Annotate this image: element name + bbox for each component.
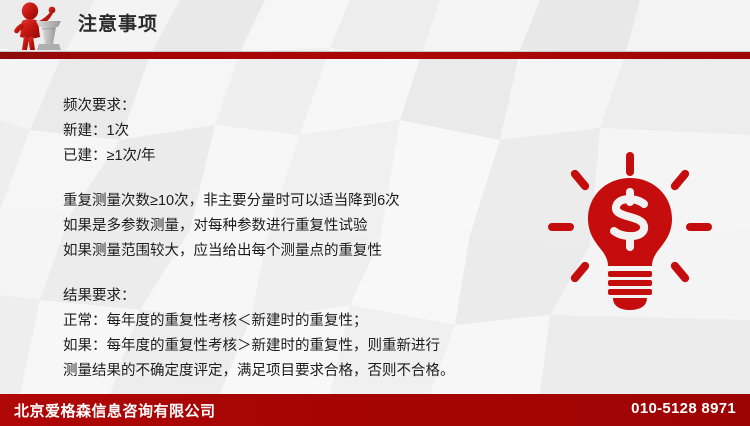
text-line: 新建：1次	[63, 119, 533, 144]
text-line: 测量结果的不确定度评定，满足项目要求合格，否则不合格。	[63, 359, 533, 384]
paragraph-repeat-measurement-requirements: 重复测量次数≥10次，非主要分量时可以适当降到6次 如果是多参数测量，对每种参数…	[63, 189, 533, 264]
page-title: 注意事项	[78, 12, 158, 38]
footer-company-name: 北京爱格森信息咨询有限公司	[14, 400, 216, 421]
header-divider-rule	[0, 51, 750, 59]
text-line: 重复测量次数≥10次，非主要分量时可以适当降到6次	[63, 189, 533, 214]
paragraph-frequency-requirements: 频次要求： 新建：1次 已建：≥1次/年	[63, 94, 533, 169]
text-line: 频次要求：	[63, 94, 533, 119]
text-line: 正常：每年度的重复性考核＜新建时的重复性；	[63, 309, 533, 334]
text-line: 如果是多参数测量，对每种参数进行重复性试验	[63, 214, 533, 239]
text-line: 结果要求：	[63, 284, 533, 309]
text-line: 如果：每年度的重复性考核＞新建时的重复性，则重新进行	[63, 334, 533, 359]
paragraph-result-requirements: 结果要求： 正常：每年度的重复性考核＜新建时的重复性； 如果：每年度的重复性考核…	[63, 284, 533, 384]
slide-header: 注意事项	[0, 0, 750, 50]
content-body: 频次要求： 新建：1次 已建：≥1次/年 重复测量次数≥10次，非主要分量时可以…	[63, 94, 533, 384]
footer-phone-number: 010-5128 8971	[631, 400, 736, 417]
presenter-at-podium-icon	[6, 1, 68, 53]
lightbulb-dollar-icon	[547, 152, 713, 312]
slide-canvas: 注意事项 频次要求： 新建：1次 已建：≥1次/年 重复测量次数≥10次，非主要…	[0, 0, 750, 426]
text-line: 已建：≥1次/年	[63, 144, 533, 169]
slide-footer: 北京爱格森信息咨询有限公司 010-5128 8971	[0, 394, 750, 426]
text-line: 如果测量范围较大，应当给出每个测量点的重复性	[63, 239, 533, 264]
